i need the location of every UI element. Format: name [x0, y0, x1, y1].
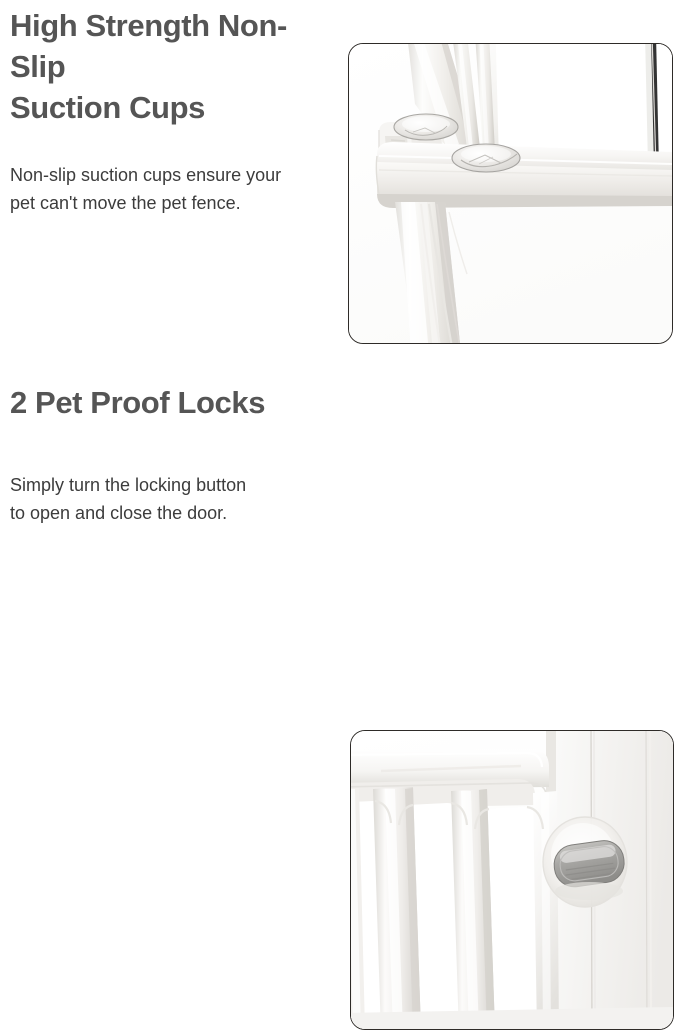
feature-body-text: Simply turn the locking button to open a… [10, 423, 340, 527]
photo-panel-pet-proof-locks [350, 730, 674, 1030]
pet-fence-lock-photo [351, 731, 673, 1029]
feature-text-column: High Strength Non-Slip Suction Cups Non-… [10, 0, 340, 217]
suction-cup-upper [394, 114, 458, 140]
feature-section-suction-cups: High Strength Non-Slip Suction Cups Non-… [0, 0, 679, 352]
photo-panel-suction-cups [348, 43, 673, 344]
fence-rail-horizontal [376, 142, 672, 208]
locking-button-assembly [543, 817, 627, 907]
feature-text-column: 2 Pet Proof Locks Simply turn the lockin… [10, 352, 340, 527]
pet-fence-suction-cup-photo [349, 44, 672, 343]
suction-cup-lower [452, 144, 520, 172]
feature-body-text: Non-slip suction cups ensure your pet ca… [10, 128, 340, 217]
feature-section-pet-proof-locks: 2 Pet Proof Locks Simply turn the lockin… [0, 352, 679, 683]
feature-heading: High Strength Non-Slip Suction Cups [10, 0, 340, 128]
infographic-page: High Strength Non-Slip Suction Cups Non-… [0, 0, 679, 683]
feature-heading: 2 Pet Proof Locks [10, 352, 340, 423]
